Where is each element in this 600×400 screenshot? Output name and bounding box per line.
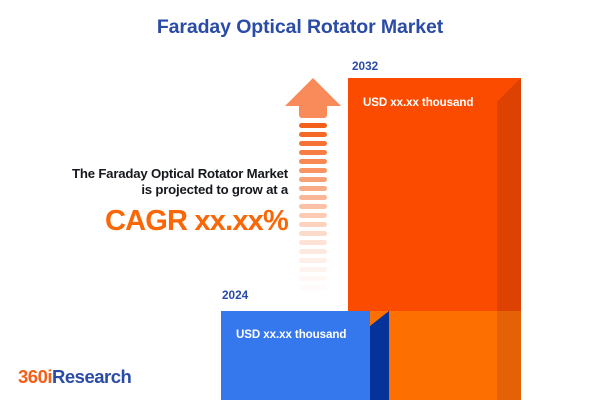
page-title: Faraday Optical Rotator Market — [0, 16, 600, 39]
arrow-segment — [299, 267, 327, 272]
arrow-segment — [299, 168, 327, 173]
statement-line-1: The Faraday Optical Rotator Market — [10, 166, 288, 182]
arrow-neck — [299, 105, 327, 118]
arrow-segment — [299, 123, 327, 128]
bar-2024 — [221, 311, 370, 400]
arrow-segment — [299, 231, 327, 236]
arrow-segment — [299, 150, 327, 155]
arrow-head-icon — [285, 78, 341, 106]
brand-logo-suffix: Research — [52, 366, 131, 387]
arrow-segment — [299, 186, 327, 191]
arrow-segment — [299, 141, 327, 146]
arrow-segment — [299, 249, 327, 254]
bar-value-label-2024: USD xx.xx thousand — [236, 328, 346, 341]
brand-logo: 360iResearch — [18, 366, 131, 388]
bar-value-label-2032: USD xx.xx thousand — [363, 96, 473, 109]
bar-2024-side — [370, 326, 389, 400]
arrow-segment — [299, 258, 327, 263]
arrow-segment — [299, 213, 327, 218]
bar-2032-overlap-side — [497, 311, 521, 400]
bar-2032-side-top — [497, 78, 521, 102]
arrow-segment — [299, 204, 327, 209]
arrow-segment — [299, 276, 327, 281]
arrow-segment — [299, 177, 327, 182]
arrow-segment — [299, 285, 327, 290]
statement-block: The Faraday Optical Rotator Market is pr… — [10, 166, 288, 238]
infographic-canvas: Faraday Optical Rotator Market The Farad… — [0, 0, 600, 400]
arrow-segment — [299, 222, 327, 227]
arrow-segment — [299, 132, 327, 137]
brand-logo-prefix: 360i — [18, 366, 52, 387]
bar-2024-side-top — [370, 311, 389, 326]
bar-year-2024: 2024 — [222, 288, 248, 302]
bar-year-2032: 2032 — [352, 59, 378, 73]
arrow-segment — [299, 159, 327, 164]
growth-arrow-icon — [285, 78, 341, 290]
statement-line-2: is projected to grow at a — [10, 182, 288, 198]
cagr-value: CAGR xx.xx% — [10, 204, 288, 238]
arrow-segment — [299, 195, 327, 200]
arrow-segment — [299, 240, 327, 245]
